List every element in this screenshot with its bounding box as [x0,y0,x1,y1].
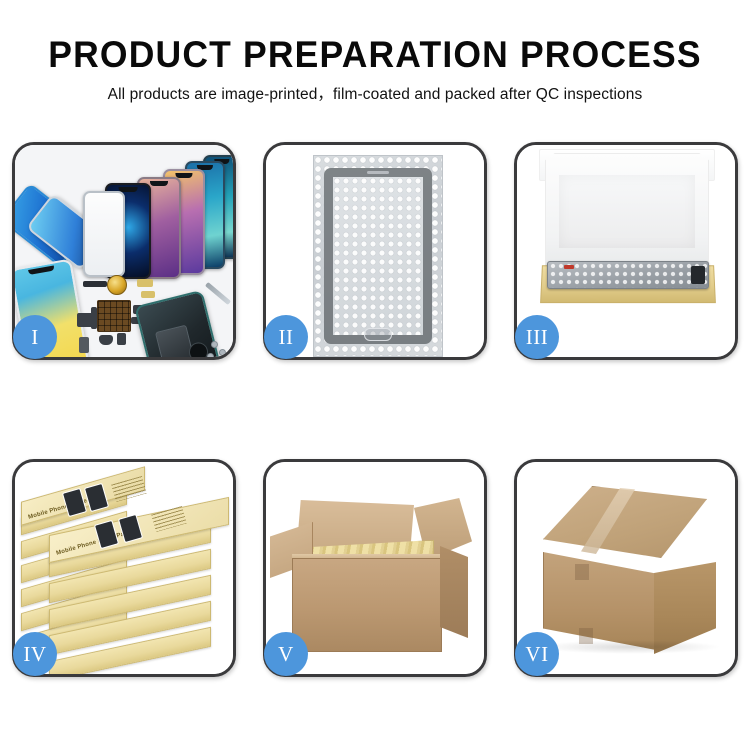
part-speaker [99,335,113,345]
part-flex-yellow-1 [137,279,153,287]
carton-hand-tab-top [575,564,589,580]
bubble-wrap-sheet [313,155,443,357]
step-badge-6: VI [515,632,559,676]
step-badge-5: V [264,632,308,676]
product-preparation-infographic: PRODUCT PREPARATION PROCESS All products… [0,0,750,750]
part-end-cap [691,266,705,284]
page-title: PRODUCT PREPARATION PROCESS [15,36,735,73]
box-stack: Mobile Phone Spare Parts Mobile Phone Sp… [21,478,233,668]
phone-notch [150,181,168,186]
phone-notch [175,173,192,178]
step-panel-1[interactable]: I [12,142,236,360]
part-flex-yellow-2 [141,291,155,298]
carton-side-face [440,546,468,638]
part-gold-coil [107,275,127,295]
phone-notch [28,266,55,275]
step-panel-5[interactable]: V [263,459,487,677]
part-screw-3 [207,353,214,357]
part-chip-grid [97,300,131,332]
foam-liner [545,153,709,273]
step-panel-6[interactable]: VI [514,459,738,677]
steps-grid: I II [12,142,738,679]
wrapped-part-in-box [547,261,709,289]
part-screw-1 [211,341,218,348]
page-subtitle: All products are image-printed，film-coat… [0,87,750,103]
step-badge-3: III [515,315,559,359]
part-screw-2 [219,349,226,356]
part-battery-connector [117,333,126,345]
step-badge-2: II [264,315,308,359]
wrapped-phone-screen [324,168,432,344]
step-badge-4: IV [13,632,57,676]
carton-shadow [539,640,721,654]
screen-surface [333,177,423,335]
part-sim-tray [79,337,89,353]
carton-front-face [292,558,442,652]
sealed-carton-front [543,552,656,650]
earpiece-slot [367,171,389,174]
header: PRODUCT PREPARATION PROCESS All products… [0,0,750,103]
phone-white-glass [83,191,125,277]
step-panel-3[interactable]: III [514,142,738,360]
label-sticker [564,265,574,269]
step-badge-1: I [13,315,57,359]
part-flex-cable-2 [91,307,97,329]
step-panel-4[interactable]: Mobile Phone Spare Parts Mobile Phone Sp… [12,459,236,677]
part-connector-strip [83,281,107,287]
step-panel-2[interactable]: II [263,142,487,360]
home-button [364,328,392,341]
